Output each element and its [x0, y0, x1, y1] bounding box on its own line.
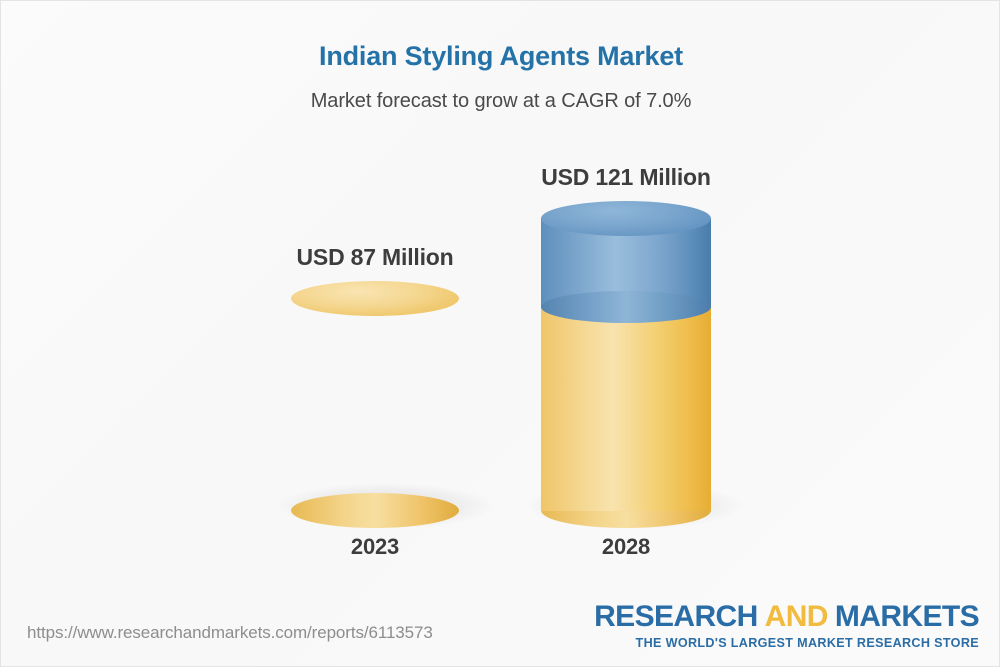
bar-body-2023 — [291, 298, 459, 511]
plot-area: USD 87 Million 2023 USD 121 Million — [1, 1, 1000, 601]
chart-card: Indian Styling Agents Market Market fore… — [0, 0, 1000, 667]
bar-cylinder-2023 — [291, 281, 459, 529]
logo-wordmark: RESEARCHANDMARKETS — [594, 602, 979, 632]
logo-tagline: THE WORLD'S LARGEST MARKET RESEARCH STOR… — [594, 636, 979, 650]
bar-value-label-2028: USD 121 Million — [456, 164, 796, 191]
logo-word-research: RESEARCH — [594, 600, 758, 633]
bar-cylinder-2028 — [541, 201, 711, 529]
bar-segment-joint-2028 — [541, 291, 711, 323]
bar-top-cap-2023 — [291, 281, 459, 316]
bar-body-yellow-2028 — [541, 304, 711, 511]
report-url-link[interactable]: https://www.researchandmarkets.com/repor… — [27, 623, 433, 643]
bar-top-cap-2028 — [541, 201, 711, 236]
bar-group-2028: USD 121 Million 2028 — [456, 1, 796, 601]
bar-category-label-2028: 2028 — [456, 534, 796, 560]
brand-logo[interactable]: RESEARCHANDMARKETS THE WORLD'S LARGEST M… — [594, 602, 979, 650]
logo-word-markets: MARKETS — [835, 600, 979, 633]
logo-word-and: AND — [765, 600, 828, 633]
